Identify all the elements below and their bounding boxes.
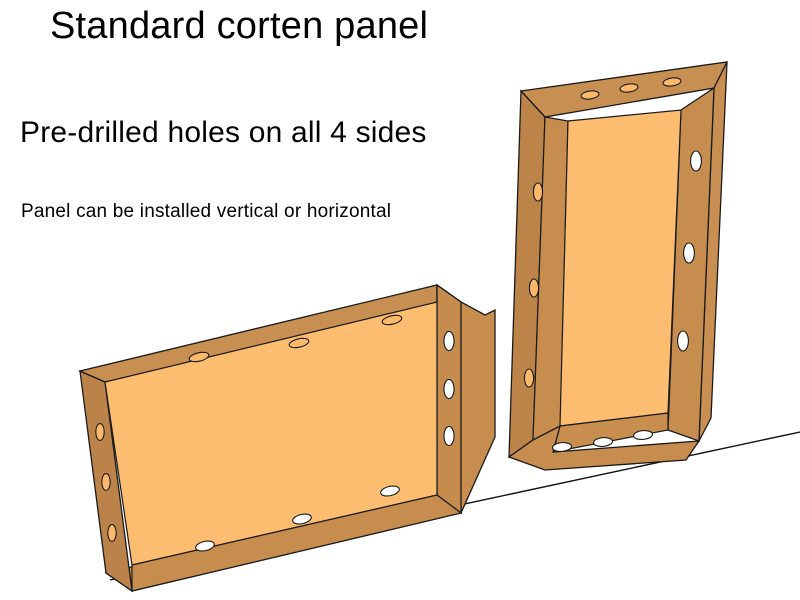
horizontal-panel [80,285,495,591]
vhole-left-3 [524,369,533,387]
horizontal-panel-right-end-holes [444,331,454,445]
vhole-right-2 [684,243,695,263]
hole-left-3 [108,525,116,542]
slide-canvas: Standard corten panel Pre-drilled holes … [0,0,800,600]
vhole-left-1 [533,183,542,201]
vertical-panel-front-face [560,110,681,426]
vhole-right-3 [678,331,689,351]
hole-right-3 [444,426,454,445]
vertical-panel [509,62,727,470]
hole-left-2 [102,474,110,491]
hole-right-2 [444,379,454,398]
hole-left-1 [96,424,104,441]
vhole-right-1 [691,151,702,171]
hole-right-1 [444,331,454,350]
panel-illustration [0,0,800,600]
vhole-left-2 [529,279,538,297]
